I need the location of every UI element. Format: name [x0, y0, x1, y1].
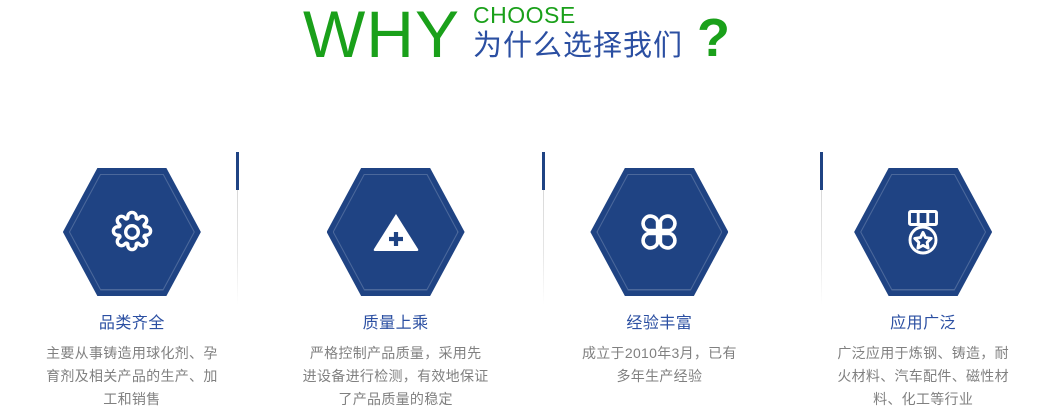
page-subtitle-choose: CHOOSE — [473, 2, 683, 28]
feature-card-title: 质量上乘 — [264, 314, 528, 334]
feature-card-title: 品类齐全 — [0, 314, 264, 334]
hexagon-badge — [854, 168, 992, 296]
feature-card-body-line: 多年生产经验 — [542, 365, 778, 388]
card-divider-accent — [542, 152, 545, 190]
feature-card[interactable]: 经验丰富 成立于2010年3月，已有 多年生产经验 — [528, 150, 792, 416]
feature-card-body-line: 育剂及相关产品的生产、加 — [14, 365, 250, 388]
feature-card-body-line: 工和销售 — [14, 388, 250, 411]
feature-card[interactable]: 品类齐全 主要从事铸造用球化剂、孕 育剂及相关产品的生产、加 工和销售 — [0, 150, 264, 416]
medal-star-icon — [897, 206, 949, 258]
question-mark-glyph: ? — [697, 8, 730, 68]
feature-card-body-line: 火材料、汽车配件、磁性材 — [805, 365, 1041, 388]
feature-card-body-line: 进设备进行检测，有效地保证 — [278, 365, 514, 388]
section-header: WHY CHOOSE 为什么选择我们 ? — [0, 0, 1055, 100]
feature-card-body-line: 成立于2010年3月，已有 — [542, 342, 778, 365]
feature-card-body: 成立于2010年3月，已有 多年生产经验 — [528, 342, 792, 388]
feature-card-body: 主要从事铸造用球化剂、孕 育剂及相关产品的生产、加 工和销售 — [0, 342, 264, 411]
feature-card-body-line: 严格控制产品质量，采用先 — [278, 342, 514, 365]
hexagon-badge — [590, 168, 728, 296]
hexagon-badge — [63, 168, 201, 296]
feature-card-row: 品类齐全 主要从事铸造用球化剂、孕 育剂及相关产品的生产、加 工和销售 — [0, 150, 1055, 416]
header-subtitle-group: CHOOSE 为什么选择我们 — [473, 2, 683, 63]
card-divider-accent — [236, 152, 239, 190]
feature-card-title: 经验丰富 — [528, 314, 792, 334]
feature-card-body-line: 主要从事铸造用球化剂、孕 — [14, 342, 250, 365]
card-divider-line — [237, 190, 238, 305]
feature-card-body-line: 了产品质量的稳定 — [278, 388, 514, 411]
triangle-plus-icon — [370, 206, 422, 258]
feature-card-body: 严格控制产品质量，采用先 进设备进行检测，有效地保证 了产品质量的稳定 — [264, 342, 528, 411]
card-divider — [820, 150, 823, 416]
card-divider — [542, 150, 545, 416]
gear-icon — [106, 206, 158, 258]
feature-card[interactable]: 质量上乘 严格控制产品质量，采用先 进设备进行检测，有效地保证 了产品质量的稳定 — [264, 150, 528, 416]
feature-card-body-line: 料、化工等行业 — [805, 388, 1041, 411]
feature-card-body: 广泛应用于炼钢、铸造，耐 火材料、汽车配件、磁性材 料、化工等行业 — [791, 342, 1055, 411]
card-divider — [236, 150, 239, 416]
four-petal-clover-icon — [633, 206, 685, 258]
header-title-group: WHY CHOOSE 为什么选择我们 ? — [303, 0, 730, 70]
card-divider-accent — [820, 152, 823, 190]
feature-card-title: 应用广泛 — [791, 314, 1055, 334]
page-subtitle-chinese: 为什么选择我们 — [473, 29, 683, 63]
hexagon-badge — [327, 168, 465, 296]
page-title-why: WHY — [303, 0, 460, 70]
feature-card-body-line: 广泛应用于炼钢、铸造，耐 — [805, 342, 1041, 365]
card-divider-line — [543, 190, 544, 305]
feature-card[interactable]: 应用广泛 广泛应用于炼钢、铸造，耐 火材料、汽车配件、磁性材 料、化工等行业 — [791, 150, 1055, 416]
card-divider-line — [821, 190, 822, 305]
